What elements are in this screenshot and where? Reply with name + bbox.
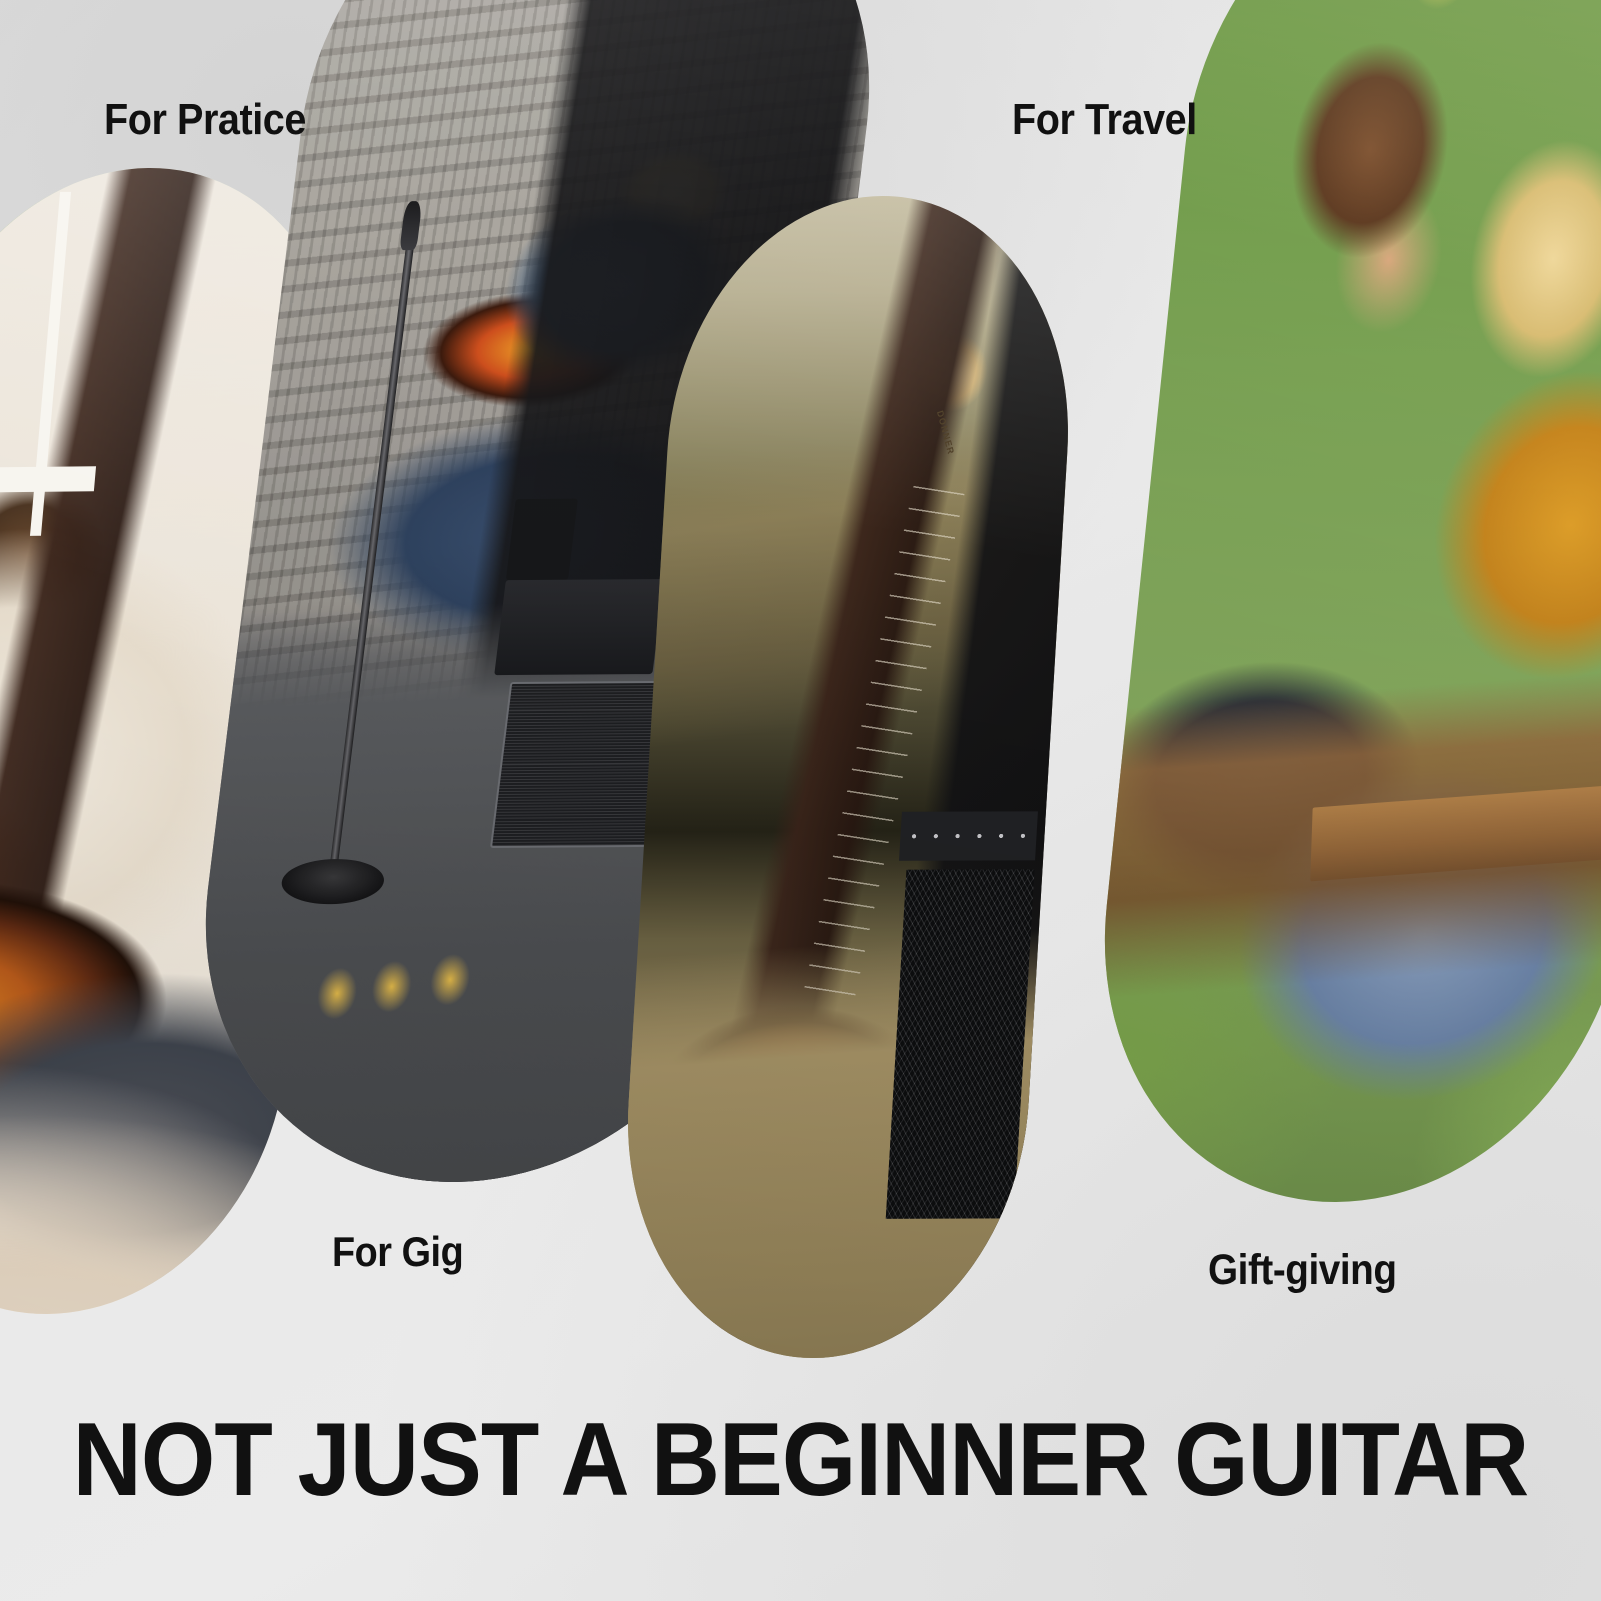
headline-text: NOT JUST A BEGINNER GUITAR	[64, 1408, 1537, 1512]
photo-travel-product: DONNER	[613, 195, 1082, 1358]
panel-label-for-practice: For Pratice	[104, 95, 306, 145]
panel-label-gift-giving: Gift-giving	[1208, 1246, 1397, 1295]
photo-gift-couple	[1076, 0, 1601, 1203]
panel-label-for-gig: For Gig	[332, 1228, 463, 1276]
photo-travel-shading	[613, 195, 1082, 1358]
promo-banner: DONNER For Pratice For Travel For Gig Gi…	[0, 0, 1601, 1601]
panel-for-travel: DONNER	[613, 195, 1082, 1358]
photo-gift-shading	[1076, 0, 1601, 1203]
panel-label-for-travel: For Travel	[1012, 95, 1197, 145]
panel-gift-giving	[1076, 0, 1601, 1203]
